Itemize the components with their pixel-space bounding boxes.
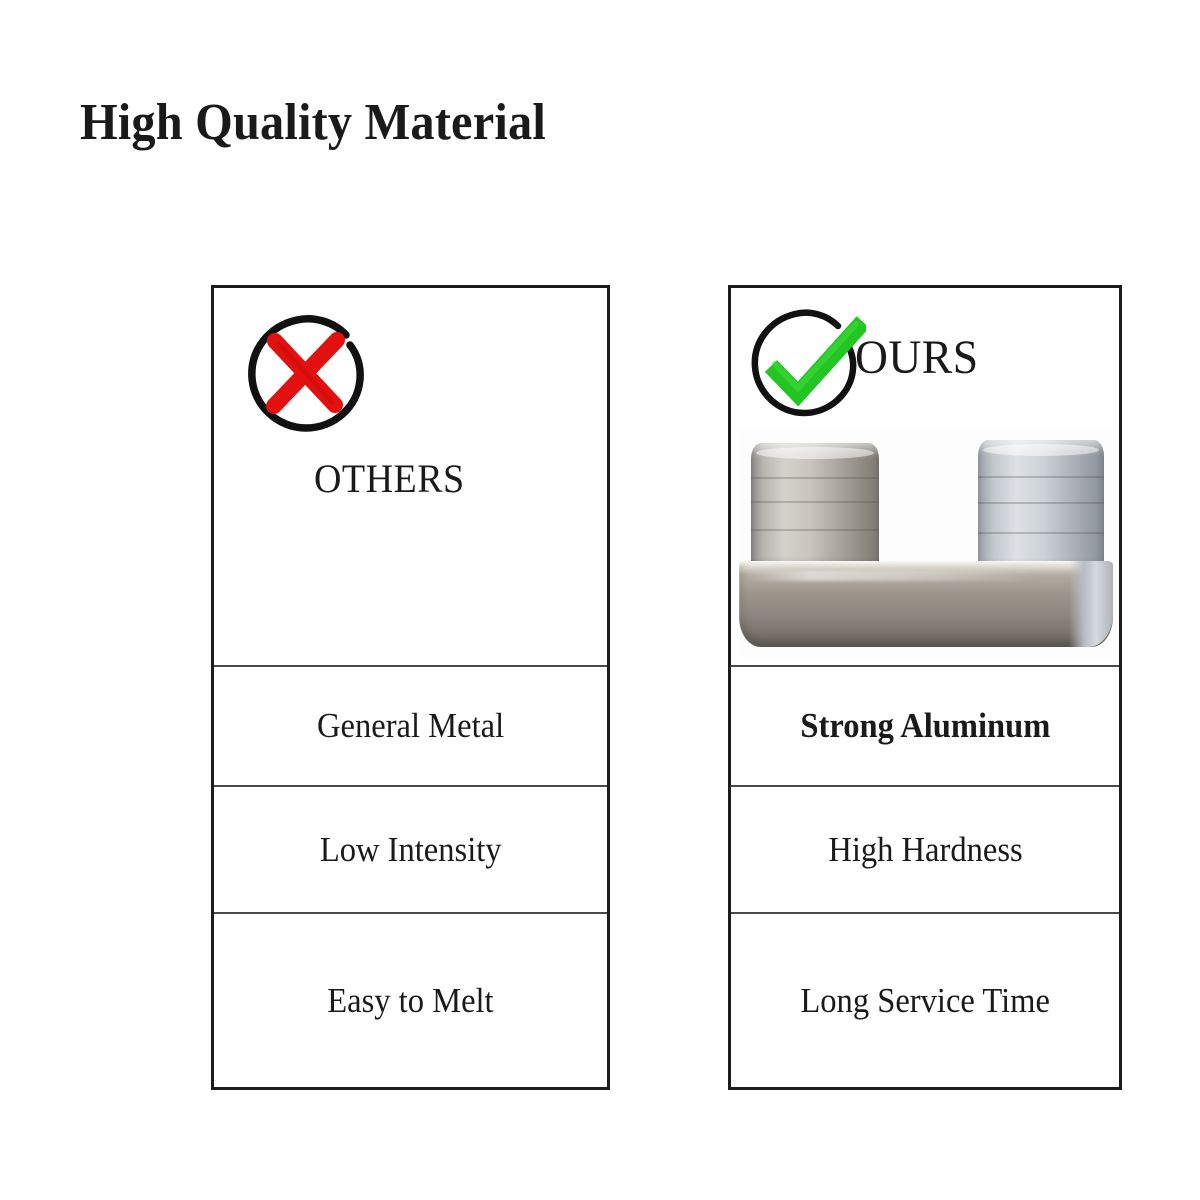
ours-feature-row-2: High Hardness <box>731 785 1119 912</box>
others-feature-row-1: General Metal <box>214 665 607 785</box>
base-highlight <box>746 571 1038 581</box>
post-rim <box>983 444 1099 456</box>
product-base-bar <box>739 561 1113 647</box>
post-ring <box>751 477 879 479</box>
post-ring <box>751 501 879 503</box>
post-ring <box>978 502 1104 504</box>
ours-hero-cell: OURS <box>731 288 1119 665</box>
others-hero-cell: OTHERS <box>214 288 607 665</box>
others-feature-label: General Metal <box>317 706 504 746</box>
comparison-column-ours: OURS S <box>728 285 1122 1090</box>
check-mark-icon <box>746 304 866 424</box>
ours-feature-label: High Hardness <box>828 830 1022 870</box>
cross-mark-icon <box>242 308 374 440</box>
product-post-left <box>751 443 879 568</box>
comparison-table: OTHERS General Metal Low Intensity Easy … <box>0 0 1200 1200</box>
ours-feature-row-3: Long Service Time <box>731 912 1119 1087</box>
comparison-column-others: OTHERS General Metal Low Intensity Easy … <box>211 285 610 1090</box>
others-feature-row-2: Low Intensity <box>214 785 607 912</box>
ours-feature-label: Long Service Time <box>800 981 1050 1021</box>
product-base-right-end <box>1069 561 1113 647</box>
others-feature-label: Low Intensity <box>320 830 502 870</box>
ours-feature-label: Strong Aluminum <box>800 706 1050 746</box>
product-post-right <box>978 440 1104 570</box>
post-ring <box>978 476 1104 478</box>
others-feature-row-3: Easy to Melt <box>214 912 607 1087</box>
post-ring <box>978 532 1104 534</box>
product-photo-aluminum-part <box>739 428 1113 658</box>
post-ring <box>751 529 879 531</box>
post-rim <box>756 447 874 459</box>
others-feature-label: Easy to Melt <box>327 981 493 1021</box>
ours-feature-row-1: Strong Aluminum <box>731 665 1119 785</box>
brand-label-ours: OURS <box>855 330 979 385</box>
brand-label-others: OTHERS <box>314 455 465 502</box>
